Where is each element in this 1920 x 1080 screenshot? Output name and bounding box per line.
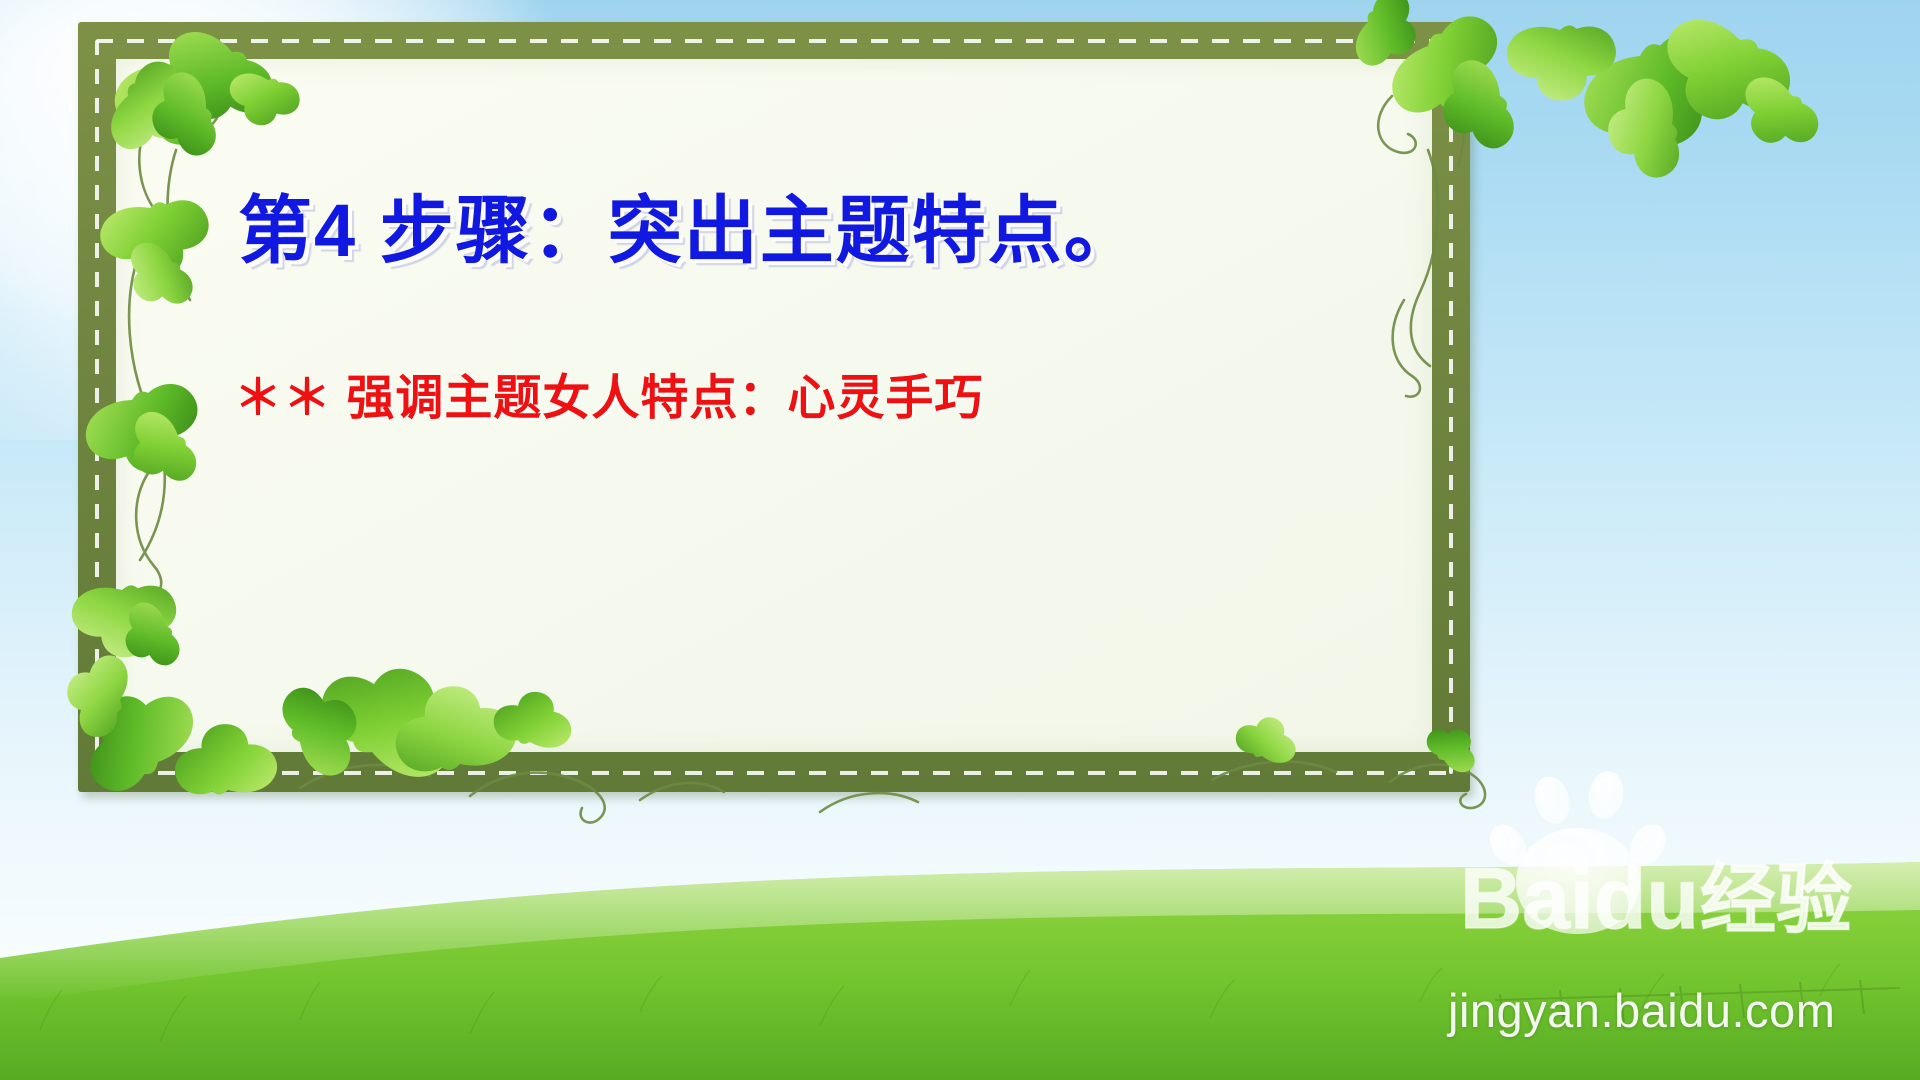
decorative-frame: 第4 步骤：突出主题特点。 ＊＊ 强调主题女人特点：心灵手巧	[78, 22, 1470, 792]
slide-content-board: 第4 步骤：突出主题特点。 ＊＊ 强调主题女人特点：心灵手巧	[116, 59, 1432, 752]
grass-field	[0, 780, 1920, 1080]
grass-shape-svg	[0, 780, 1920, 1080]
subtitle-note: ＊＊ 强调主题女人特点：心灵手巧	[234, 375, 983, 423]
page-title: 第4 步骤：突出主题特点。	[238, 194, 1140, 268]
slide-canvas: 第4 步骤：突出主题特点。 ＊＊ 强调主题女人特点：心灵手巧	[0, 0, 1920, 1080]
